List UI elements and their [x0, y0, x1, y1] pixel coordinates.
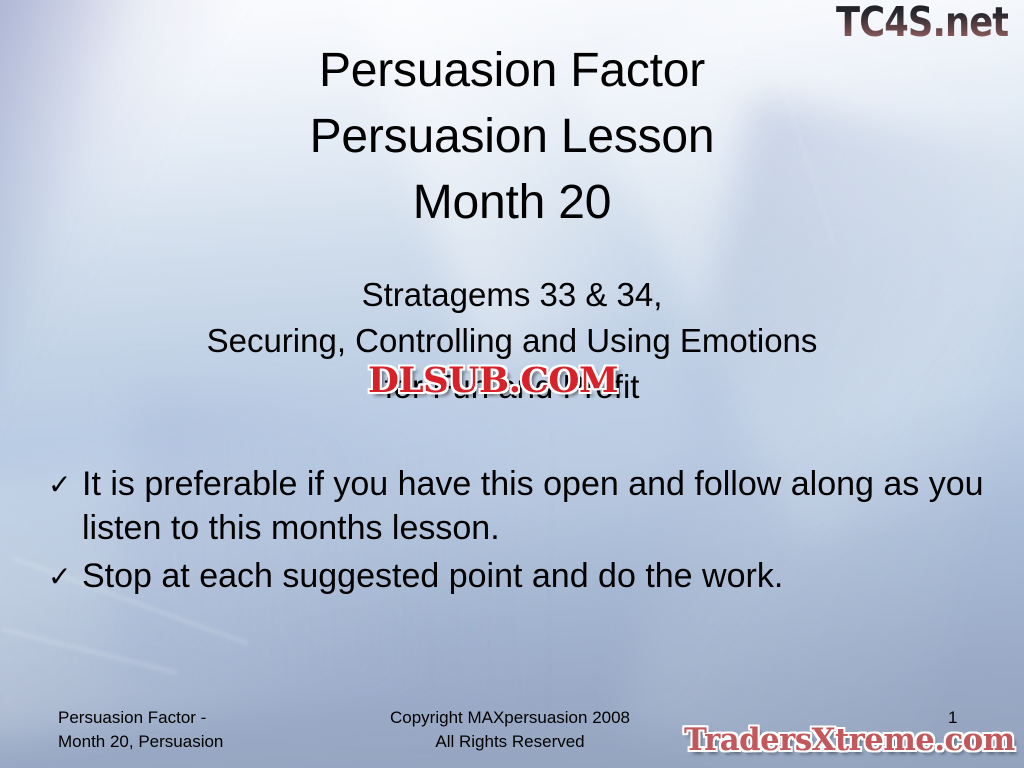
slide-title-line-1: Persuasion Factor	[0, 38, 1024, 104]
presentation-slide: Persuasion Factor Persuasion Lesson Mont…	[0, 0, 1024, 768]
slide-title-line-3: Month 20	[0, 170, 1024, 236]
slide-subtitle-line-1: Stratagems 33 & 34,	[0, 272, 1024, 318]
watermark-dlsub: DLSUB.COM	[368, 360, 618, 401]
watermark-tradersxtreme: TradersXtreme.com	[684, 722, 1015, 758]
watermark-tc4s: TC4S.net	[836, 0, 1008, 46]
footer-left-line-1: Persuasion Factor -	[58, 706, 223, 730]
background-crease-line	[2, 628, 177, 673]
footer-copyright-line-1: Copyright MAXpersuasion 2008	[300, 706, 720, 730]
footer-copyright-line-2: All Rights Reserved	[300, 730, 720, 754]
footer-copyright: Copyright MAXpersuasion 2008 All Rights …	[300, 706, 720, 754]
list-item: ✓ Stop at each suggested point and do th…	[46, 554, 984, 598]
footer-left: Persuasion Factor - Month 20, Persuasion	[58, 706, 223, 754]
list-item-label: Stop at each suggested point and do the …	[82, 554, 984, 598]
slide-subtitle-line-2: Securing, Controlling and Using Emotions	[0, 318, 1024, 364]
list-item: ✓ It is preferable if you have this open…	[46, 462, 984, 550]
list-item-label: It is preferable if you have this open a…	[82, 462, 984, 550]
checkmark-icon: ✓	[48, 555, 71, 599]
footer-left-line-2: Month 20, Persuasion	[58, 730, 223, 754]
bullet-list: ✓ It is preferable if you have this open…	[46, 462, 984, 602]
slide-title: Persuasion Factor Persuasion Lesson Mont…	[0, 38, 1024, 236]
checkmark-icon: ✓	[48, 463, 71, 507]
slide-title-line-2: Persuasion Lesson	[0, 104, 1024, 170]
